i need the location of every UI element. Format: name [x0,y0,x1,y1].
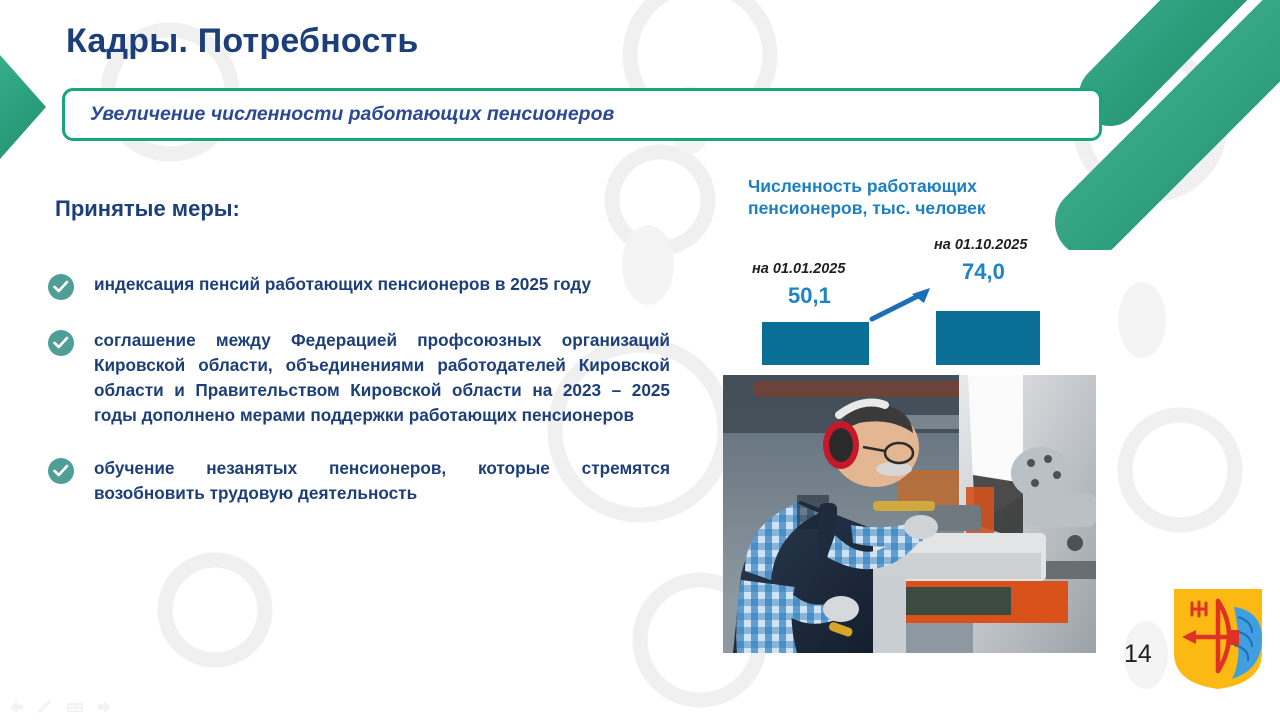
bar-value-label: 74,0 [962,259,1005,285]
measures-heading-colon: : [233,196,240,221]
measures-heading-label: Принятые меры [55,196,233,221]
check-glyph [53,464,69,478]
bar-category-label: на 01.10.2025 [934,237,1027,253]
keyboard-icon[interactable] [66,700,84,714]
bar-category-label: на 01.01.2025 [752,261,845,277]
subtitle-banner: Увеличение численности работающих пенсио… [62,88,1102,141]
list-item-label: соглашение между Федерацией профсоюзных … [94,328,670,428]
list-item: соглашение между Федерацией профсоюзных … [48,328,670,428]
bar-value-label: 50,1 [788,283,831,309]
check-circle-icon [48,458,74,484]
check-glyph [53,336,69,350]
check-circle-icon [48,274,74,300]
list-item-label: индексация пенсий работающих пенсионеров… [94,272,670,297]
pen-icon[interactable] [37,700,53,714]
growth-arrow-icon [868,285,938,325]
check-glyph [53,280,69,294]
worker-at-machine-photo [723,375,1096,653]
page-number: 14 [1124,640,1152,669]
photo-illustration [723,375,1096,653]
measures-list: индексация пенсий работающих пенсионеров… [48,272,670,506]
next-slide-icon[interactable] [97,700,113,714]
annotation-toolbar[interactable] [8,700,113,714]
left-green-arrow-shape [0,55,46,159]
bar-2025-01-01 [762,322,869,365]
list-item: индексация пенсий работающих пенсионеров… [48,272,670,300]
subtitle-text: Увеличение численности работающих пенсио… [65,103,614,126]
list-item-label: обучение незанятых пенсионеров, которые … [94,456,670,506]
bar-chart: на 01.01.2025 50,1 на 01.10.2025 74,0 [740,235,1060,365]
check-circle-icon [48,330,74,356]
page-title: Кадры. Потребность [66,22,419,61]
kirov-oblast-coat-of-arms [1172,587,1264,691]
bar-2025-10-01 [936,311,1040,365]
prev-slide-icon[interactable] [8,700,24,714]
chart-title: Численность работающих пенсионеров, тыс.… [748,175,1078,220]
list-item: обучение незанятых пенсионеров, которые … [48,456,670,506]
measures-heading: Принятые меры: [55,196,240,222]
